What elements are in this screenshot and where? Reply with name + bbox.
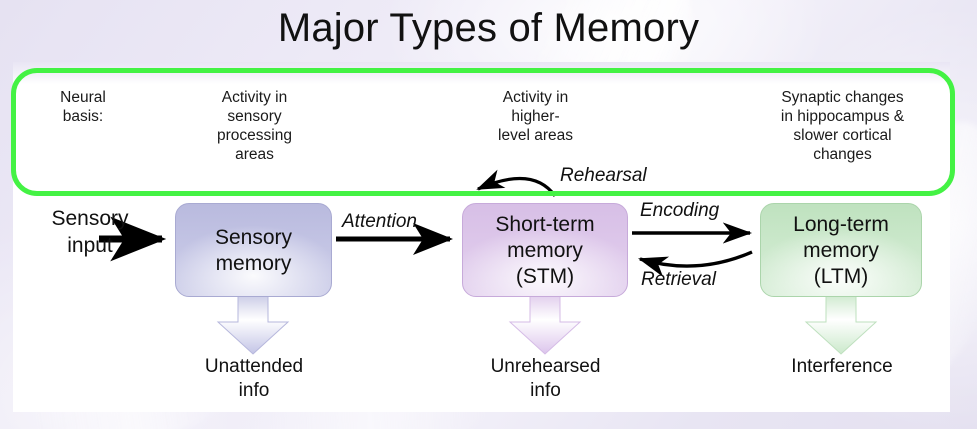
rehearsal-arrow-label: Rehearsal	[560, 165, 647, 187]
neural-basis-long-term: Synaptic changes in hippocampus & slower…	[735, 88, 950, 164]
long-term-memory-box: Long-term memory (LTM)	[760, 203, 922, 297]
neural-basis-short-term: Activity in higher- level areas	[443, 88, 628, 145]
attention-arrow-label: Attention	[342, 211, 417, 233]
retrieval-arrow-label: Retrieval	[641, 269, 716, 291]
outcome-unrehearsed-info: Unrehearsed info	[458, 355, 633, 403]
neural-basis-sensory: Activity in sensory processing areas	[167, 88, 342, 164]
slide-canvas: Major Types of Memory	[0, 0, 977, 429]
slide-title: Major Types of Memory	[0, 2, 977, 54]
outcome-interference: Interference	[752, 355, 932, 379]
short-term-memory-box: Short-term memory (STM)	[462, 203, 628, 297]
outcome-unattended-info: Unattended info	[168, 355, 340, 403]
neural-basis-label: Neural basis:	[33, 88, 133, 126]
sensory-input-label: Sensory input	[20, 205, 160, 259]
encoding-arrow-label: Encoding	[640, 200, 719, 222]
panel-top-tint	[13, 62, 950, 84]
sensory-memory-box: Sensory memory	[175, 203, 332, 297]
